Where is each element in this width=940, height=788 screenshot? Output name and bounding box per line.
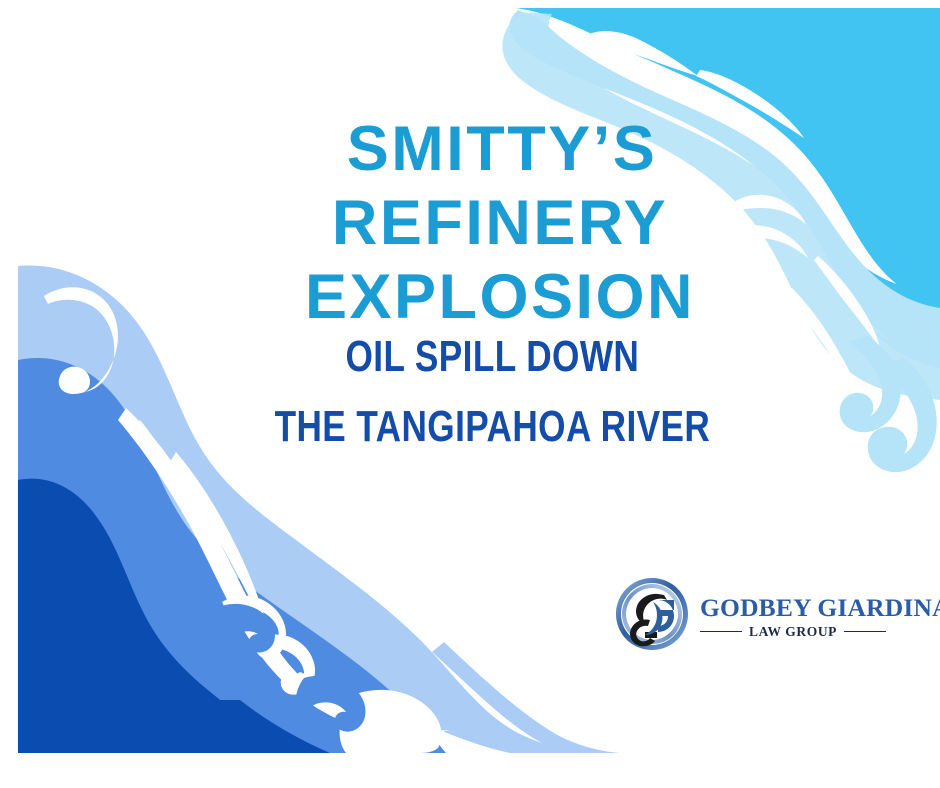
law-firm-logo: GODBEY GIARDINA LAW GROUP [612,572,902,656]
wave-highlight-blob [694,273,782,315]
logo-firm-name: GODBEY GIARDINA [700,594,940,622]
margin-mask-top [0,0,940,8]
monogram-icon [612,574,692,654]
margin-mask-left [0,0,18,755]
logo-tagline: LAW GROUP [742,624,844,639]
top-right-wave-group [502,8,940,472]
poster-canvas: SMITTY’S REFINERY EXPLOSION OIL SPILL DO… [0,0,940,788]
bottom-left-wave-group [18,265,620,753]
logo-rule-left [700,631,742,632]
margin-mask-bottom [0,753,940,755]
logo-rule-right [844,631,886,632]
logo-text-block: GODBEY GIARDINA LAW GROUP [700,590,940,639]
logo-tagline-row: LAW GROUP [700,624,886,639]
